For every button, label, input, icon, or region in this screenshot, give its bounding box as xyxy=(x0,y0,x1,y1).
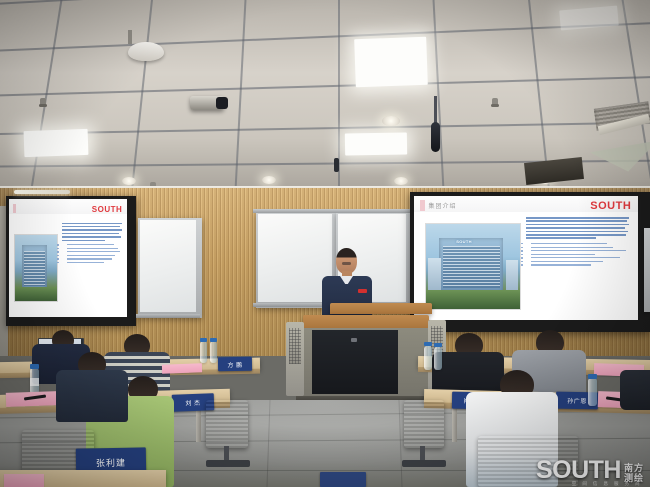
slide-logo: SOUTH xyxy=(590,200,631,212)
podium-front-ledge xyxy=(303,315,429,329)
building-logo: SOUTH xyxy=(456,239,472,244)
ceiling xyxy=(0,0,650,192)
presenter-shirt-logo xyxy=(358,289,367,293)
whiteboard-left-surface xyxy=(140,220,196,312)
projection-screen-right-surface: 集团介绍 SOUTH SOUTH xyxy=(414,196,638,320)
water-bottle[interactable] xyxy=(210,341,217,363)
whiteboard-right-edge xyxy=(644,228,650,312)
building-wing-left xyxy=(428,258,441,290)
smoke-detector xyxy=(128,42,164,61)
building-windows xyxy=(443,246,499,288)
slide-accent-tab xyxy=(13,204,16,213)
placard-name: 方 鹏 xyxy=(227,359,242,368)
slide-title: 集团介绍 xyxy=(429,201,457,210)
placard-name: 孙广恩 xyxy=(567,396,587,405)
conference-room-photo: SOUTH xyxy=(0,0,650,487)
sprinkler-head xyxy=(492,98,498,107)
speaker-grill-left xyxy=(289,328,301,364)
presenter-glasses-icon xyxy=(342,262,351,265)
watermark-tagline: 空 间 信 息 服 务 商 xyxy=(572,481,642,487)
ceiling-downlight xyxy=(394,177,408,185)
slide-body-right xyxy=(526,217,629,268)
name-placard-fangpeng: 方 鹏 xyxy=(218,357,252,372)
watermark-brand: SOUTH xyxy=(536,458,621,483)
attendee-body xyxy=(620,370,650,410)
ceiling-downlight xyxy=(122,177,136,185)
bottle-cap xyxy=(424,342,432,346)
desk-leg xyxy=(452,408,457,442)
watermark: SOUTH 南方 测绘 xyxy=(536,458,644,483)
water-bottle[interactable] xyxy=(200,341,207,363)
projection-screen-left-surface: SOUTH xyxy=(9,199,127,317)
placard-name: 张利建 xyxy=(96,455,126,469)
chair-base xyxy=(402,460,446,467)
bottle-cap xyxy=(588,374,597,379)
desk-leg xyxy=(196,408,201,442)
handout-pink[interactable] xyxy=(162,363,202,373)
bottle-cap xyxy=(30,364,39,369)
sprinkler-head xyxy=(40,98,46,107)
projection-screen-right: 集团介绍 SOUTH SOUTH xyxy=(410,192,650,332)
building-wing-right xyxy=(506,260,518,290)
ceiling-panel-light xyxy=(24,129,89,157)
podium-desk-surface xyxy=(330,303,432,314)
ceiling-panel-light xyxy=(345,132,407,155)
slide-right: 集团介绍 SOUTH SOUTH xyxy=(414,196,638,320)
ceiling-microphone xyxy=(334,158,339,172)
detector-stem xyxy=(128,30,132,44)
bottle-cap xyxy=(200,338,207,342)
office-chair-back[interactable] xyxy=(404,400,444,448)
slide-logo: SOUTH xyxy=(92,205,123,214)
bottle-label xyxy=(30,378,39,386)
whiteboard-track-top xyxy=(253,209,411,213)
slide-building-photo: SOUTH xyxy=(425,223,521,309)
ceiling-downlight xyxy=(382,116,400,126)
placard-name: 刘 杰 xyxy=(185,398,200,408)
photo-greenery xyxy=(15,287,57,302)
whiteboard-left xyxy=(138,218,202,318)
water-bottle[interactable] xyxy=(424,346,432,370)
attendee-body xyxy=(56,370,128,422)
slide-accent-tab xyxy=(420,200,425,211)
handout-pink[interactable] xyxy=(4,474,44,487)
building-windows xyxy=(24,251,45,285)
podium-knob-icon[interactable] xyxy=(351,338,357,342)
office-chair-back[interactable] xyxy=(206,400,248,448)
water-bottle[interactable] xyxy=(434,347,442,370)
slide-body-left xyxy=(62,223,122,266)
photo-greenery xyxy=(426,290,520,309)
water-bottle[interactable] xyxy=(588,378,597,406)
projection-screen-left: SOUTH xyxy=(6,196,136,326)
whiteboard-left-rail xyxy=(136,314,200,318)
slide-building-photo xyxy=(14,234,58,302)
chair-base xyxy=(206,460,250,467)
name-placard-front-partial xyxy=(320,472,366,487)
whiteboard-center-surface-1 xyxy=(258,214,332,302)
microphone-cable xyxy=(434,96,437,124)
ceiling-microphone xyxy=(431,122,440,152)
projector-lens-icon xyxy=(216,97,228,109)
bottle-cap xyxy=(434,343,442,347)
ceiling-panel-light xyxy=(354,37,428,87)
screen-light-bar xyxy=(14,190,70,194)
slide-left: SOUTH xyxy=(9,199,127,317)
ceiling-downlight xyxy=(262,176,276,184)
bottle-cap xyxy=(210,338,217,342)
